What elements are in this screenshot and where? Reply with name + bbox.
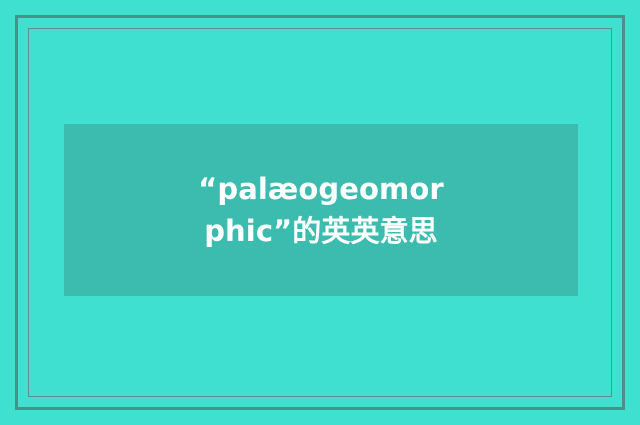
page-title: “palæogeomorphic”的英英意思 [192,168,450,253]
page-canvas: “palæogeomorphic”的英英意思 [0,0,640,425]
content-card: “palæogeomorphic”的英英意思 [64,124,578,296]
